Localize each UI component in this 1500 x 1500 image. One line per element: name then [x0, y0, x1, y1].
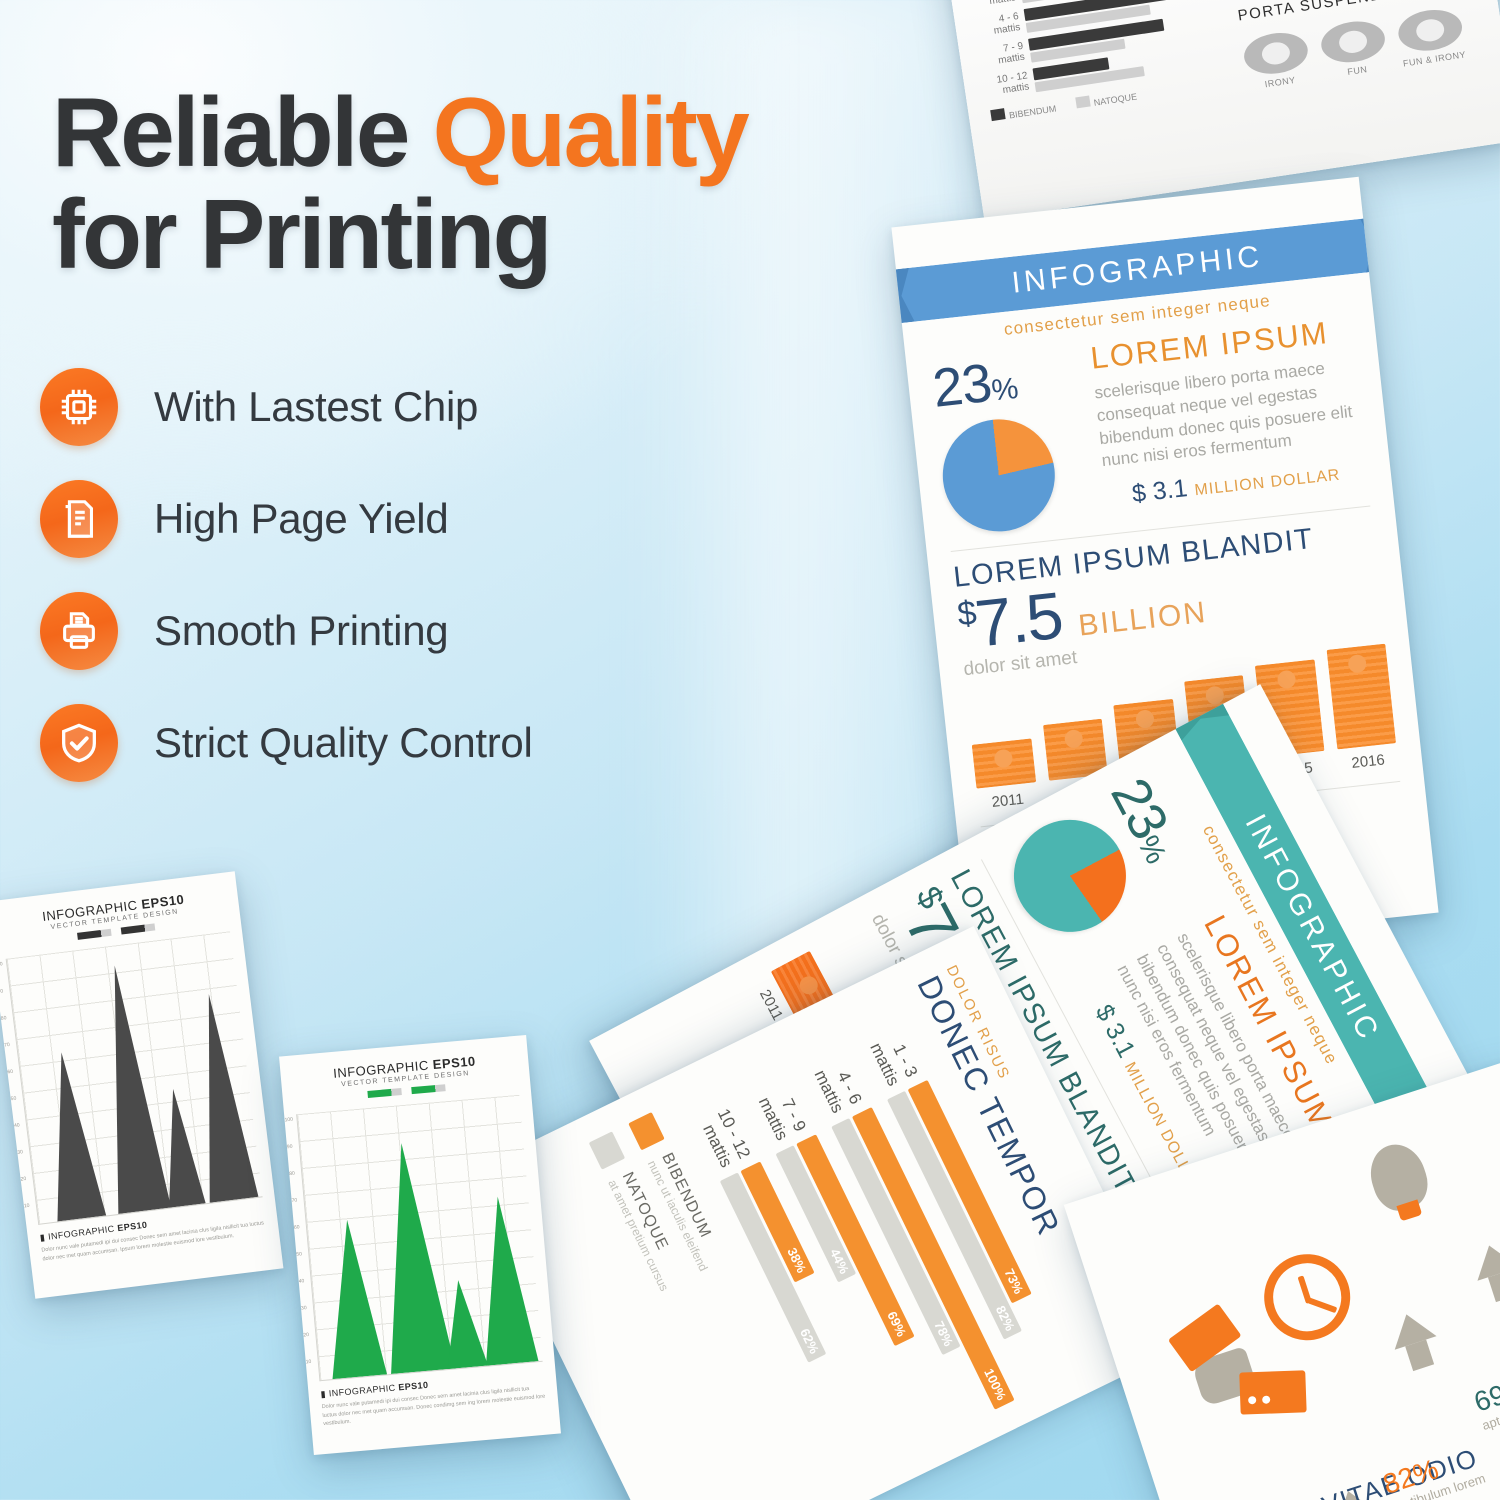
- stat-82: 82% vestibulum lorem: [1379, 1440, 1487, 1500]
- printer-icon: [40, 592, 118, 670]
- ellipse-chart-icon: [1241, 29, 1310, 78]
- gray-row-label: 7 - 9 mattis: [981, 40, 1032, 69]
- stat-69: 69% aptent taciti sociosqu: [1470, 1351, 1500, 1434]
- year-bar: 2011: [972, 738, 1038, 812]
- arrow-up-icon: [1385, 1308, 1436, 1350]
- feature-item-page-yield: High Page Yield: [40, 470, 700, 568]
- lightbulb-icon: [1363, 1137, 1435, 1216]
- legend-bar: [77, 929, 112, 940]
- ellipse-caption: IRONY: [1248, 72, 1313, 91]
- ellipse-caption: FUN & IRONY: [1402, 49, 1467, 68]
- spike-area-plot: 10090 8070 6050 4030 2010: [296, 1095, 543, 1382]
- ellipse-caption: FUN: [1325, 61, 1390, 80]
- headline-line1-plain: Reliable: [52, 77, 433, 187]
- legend-swatch-primary: [990, 108, 1005, 121]
- legend-bar: [367, 1088, 401, 1098]
- legend-label-secondary: NATOQUE: [1093, 91, 1138, 107]
- feature-label: Smooth Printing: [154, 607, 448, 655]
- gray-spike-chart-sheet: INFOGRAPHIC EPS10 VECTOR TEMPLATE DESIGN…: [0, 871, 283, 1298]
- gray-bar-chart: DOLOR RISUS DONEC TEMPOR 1 - 3 mattis 4 …: [966, 0, 1228, 130]
- legend-label-primary: BIBENDUM: [1008, 104, 1056, 121]
- ellipse-chart-icon: [1318, 17, 1387, 66]
- spike-area-plot: 10090 8070 6050 4030 2010: [6, 931, 263, 1225]
- feature-label: With Lastest Chip: [154, 383, 478, 431]
- headline-line1-accent: Quality: [433, 77, 748, 187]
- legend-swatch-secondary: [589, 1131, 626, 1169]
- document-icon: [40, 480, 118, 558]
- legend-bar: [411, 1084, 445, 1094]
- legend-swatch-secondary: [1075, 96, 1090, 109]
- pie-percent-value: 23%: [930, 342, 1086, 420]
- shield-check-icon: [40, 704, 118, 782]
- feature-item-quality-control: Strict Quality Control: [40, 694, 700, 792]
- feature-item-smooth-printing: Smooth Printing: [40, 582, 700, 680]
- feature-label: High Page Yield: [154, 495, 448, 543]
- legend-bar: [121, 923, 156, 934]
- headline-line2: for Printing: [52, 179, 550, 289]
- ellipse-chart-icon: [1396, 6, 1465, 55]
- page-headline: Reliable Quality for Printing: [52, 82, 932, 286]
- grayscale-infographic-sheet: DOLOR RISUS DONEC TEMPOR 1 - 3 mattis 4 …: [942, 0, 1500, 220]
- chip-icon: [40, 368, 118, 446]
- card-icon: [1239, 1370, 1306, 1414]
- clock-icon: [1253, 1243, 1361, 1351]
- feature-label: Strict Quality Control: [154, 719, 533, 767]
- gray-row-label: 4 - 6 mattis: [976, 10, 1027, 39]
- ribbon-title: INFOGRAPHIC: [1010, 240, 1265, 301]
- year-bar: 2016: [1326, 643, 1399, 773]
- green-spike-chart-sheet: INFOGRAPHIC EPS10 VECTOR TEMPLATE DESIGN…: [279, 1035, 561, 1455]
- feature-item-chip: With Lastest Chip: [40, 358, 700, 456]
- arrow-up-icon: [1468, 1239, 1500, 1281]
- chart-sheet-footer: ▮ INFOGRAPHIC EPS10 Dolor nunc vale puta…: [320, 1370, 547, 1429]
- gray-row-label: 10 - 12 mattis: [985, 70, 1036, 99]
- pie-chart: [937, 414, 1060, 537]
- gray-right-column: QUISQUE VITAE ODIO PORTA SUSPENDISSE SED…: [1222, 0, 1484, 92]
- feature-list: With Lastest Chip High Page Yield Smooth…: [40, 358, 700, 806]
- legend-swatch-primary: [628, 1112, 665, 1150]
